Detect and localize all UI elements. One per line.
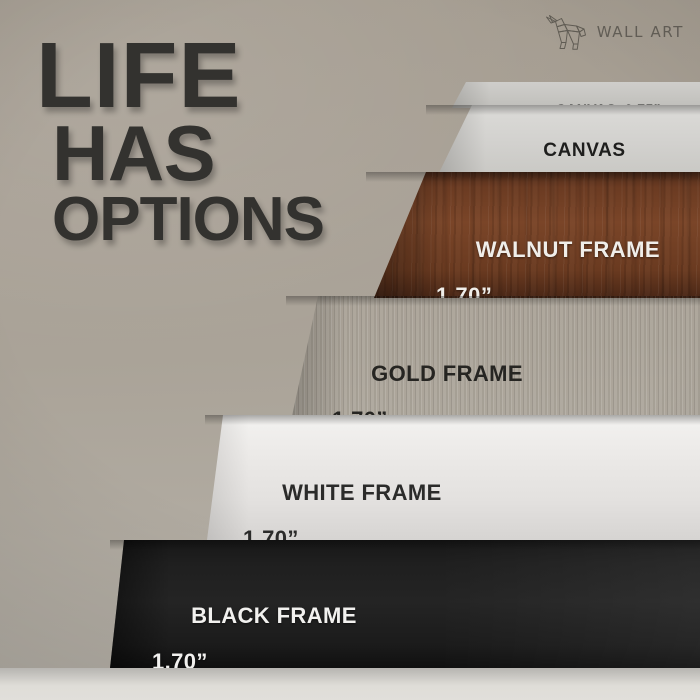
product-options-poster: CANVAS 0.75” CANVAS 1.50” WALNUT FRAME 1… [0,0,700,700]
headline-line-2: HAS [52,120,324,187]
headline-line-3: OPTIONS [52,193,324,246]
option-depth-black-frame: 1.70” [152,651,357,668]
option-label-black-frame: BLACK FRAME 1.70” [152,582,357,668]
goat-origami-icon [542,14,590,50]
option-depth-gold-frame: 1.70” [332,409,523,416]
option-title-walnut-frame: WALNUT FRAME [476,237,660,262]
page-title: LIFE HAS OPTIONS [36,36,324,246]
option-label-canvas-150: CANVAS 1.50” [508,121,626,175]
option-label-white-frame: WHITE FRAME 1.70” [243,459,442,540]
option-title-black-frame: BLACK FRAME [191,603,357,628]
option-title-canvas-150: CANVAS [543,140,625,161]
option-depth-white-frame: 1.70” [243,528,442,540]
floor-contact-shadow [0,668,700,686]
option-slab-white-frame[interactable]: WHITE FRAME 1.70” [205,415,700,540]
headline-line-1: LIFE [36,36,324,116]
option-slab-canvas-150[interactable]: CANVAS 1.50” [426,105,700,175]
option-slab-canvas-075[interactable]: CANVAS 0.75” [444,82,700,108]
option-slab-gold-frame[interactable]: GOLD FRAME 1.70” [286,296,700,416]
option-label-canvas-075: CANVAS 0.75” [530,87,661,108]
brand-name: WALL ART [597,23,684,41]
option-depth-walnut-frame: 1.70” [436,285,660,298]
option-label-walnut-frame: WALNUT FRAME 1.70” [436,216,660,298]
brand-logo[interactable]: WALL ART [542,14,684,50]
option-title-gold-frame: GOLD FRAME [371,361,523,386]
option-title-white-frame: WHITE FRAME [282,480,442,505]
option-slab-black-frame[interactable]: BLACK FRAME 1.70” [110,540,700,668]
option-label-gold-frame: GOLD FRAME 1.70” [332,340,523,416]
